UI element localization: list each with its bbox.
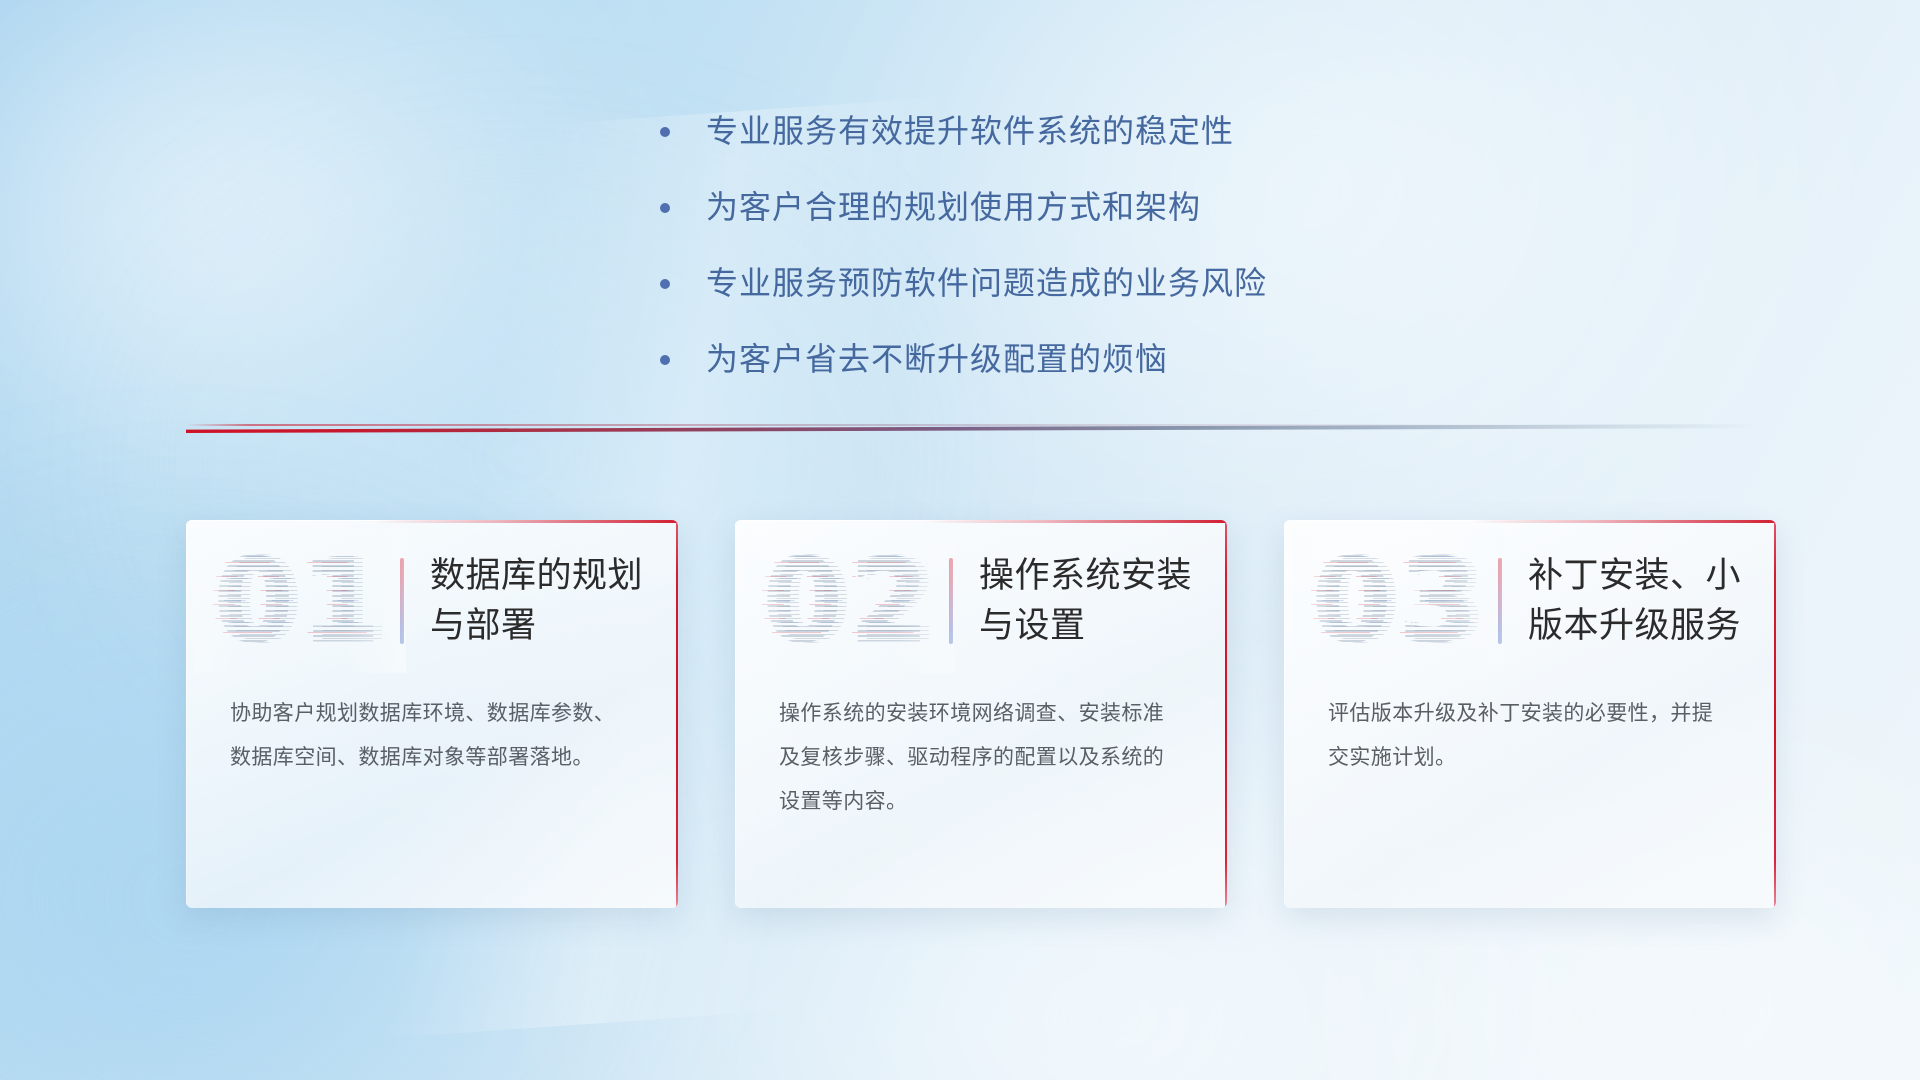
card-body-text: 评估版本升级及补丁安装的必要性，并提交实施计划。 [1284,692,1776,780]
list-item: 为客户省去不断升级配置的烦恼 [660,336,1480,382]
section-divider [186,424,1760,433]
card-title-line-2: 版本升级服务 [1528,601,1741,651]
service-card-01[interactable]: 01 01 01 01 数据库的规划 与部署 协助客户规划数据库环境、数据库参数… [186,520,678,908]
card-title: 数据库的规划 与部署 [430,551,643,651]
card-title-line-1: 数据库的规划 [430,551,643,601]
bullet-text: 为客户省去不断升级配置的烦恼 [706,336,1168,382]
card-number-glitch: 01 01 01 01 [210,535,390,667]
card-title-line-2: 与部署 [430,601,643,651]
bullet-dot-icon [660,203,670,213]
card-number-fade-mask [743,529,955,673]
card-body-text: 操作系统的安装环境网络调查、安装标准及复核步骤、驱动程序的配置以及系统的设置等内… [735,692,1227,824]
card-title-line-2: 与设置 [979,601,1192,651]
bullet-text: 为客户合理的规划使用方式和架构 [706,184,1201,230]
bullet-dot-icon [660,127,670,137]
list-item: 专业服务有效提升软件系统的稳定性 [660,108,1480,154]
card-title-line-1: 补丁安装、小 [1528,551,1741,601]
divider-hairline [186,424,1760,426]
card-number-fade-mask [1292,529,1504,673]
bullet-dot-icon [660,279,670,289]
bullet-text: 专业服务预防软件问题造成的业务风险 [706,260,1267,306]
card-number-glitch: 03 03 03 03 [1308,535,1488,667]
card-header: 01 01 01 01 数据库的规划 与部署 [186,520,678,682]
service-card-03[interactable]: 03 03 03 03 补丁安装、小 版本升级服务 评估版本升级及补丁安装的必要… [1284,520,1776,908]
list-item: 专业服务预防软件问题造成的业务风险 [660,260,1480,306]
card-title: 补丁安装、小 版本升级服务 [1528,551,1741,651]
card-row: 01 01 01 01 数据库的规划 与部署 协助客户规划数据库环境、数据库参数… [186,520,1776,908]
bullet-list: 专业服务有效提升软件系统的稳定性 为客户合理的规划使用方式和架构 专业服务预防软… [660,108,1480,412]
card-number-fade-mask [194,529,406,673]
card-title-line-1: 操作系统安装 [979,551,1192,601]
slide-canvas: 专业服务有效提升软件系统的稳定性 为客户合理的规划使用方式和架构 专业服务预防软… [0,0,1920,1080]
bullet-dot-icon [660,355,670,365]
service-card-02[interactable]: 02 02 02 02 操作系统安装 与设置 操作系统的安装环境网络调查、安装标… [735,520,1227,908]
card-body-text: 协助客户规划数据库环境、数据库参数、数据库空间、数据库对象等部署落地。 [186,692,678,780]
card-header: 02 02 02 02 操作系统安装 与设置 [735,520,1227,682]
card-number-glitch: 02 02 02 02 [759,535,939,667]
list-item: 为客户合理的规划使用方式和架构 [660,184,1480,230]
card-title: 操作系统安装 与设置 [979,551,1192,651]
card-header: 03 03 03 03 补丁安装、小 版本升级服务 [1284,520,1776,682]
bullet-text: 专业服务有效提升软件系统的稳定性 [706,108,1234,154]
